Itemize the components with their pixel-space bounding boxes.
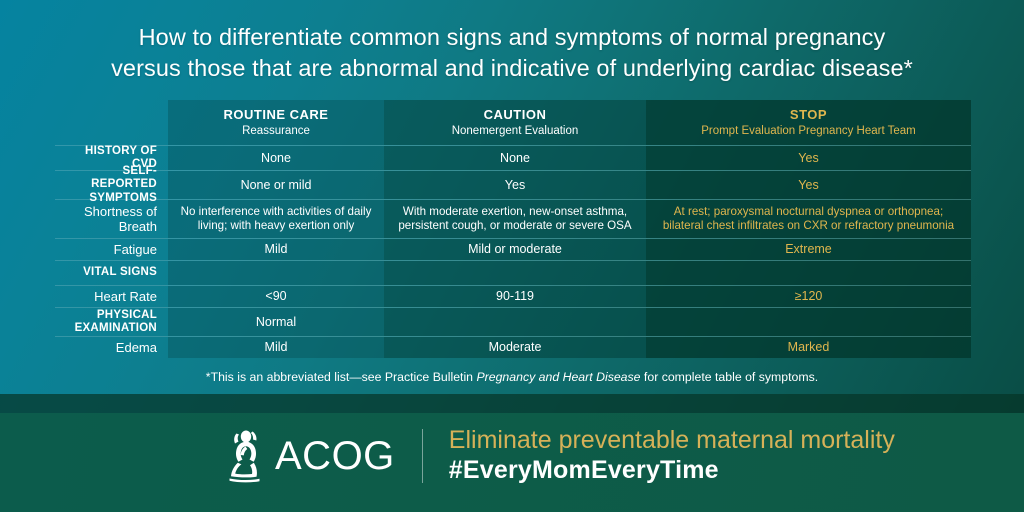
column-header-stop: STOP Prompt Evaluation Pregnancy Heart T…: [646, 100, 971, 145]
cell-routine-edema: Mild: [168, 337, 384, 358]
column-sub-stop: Prompt Evaluation Pregnancy Heart Team: [701, 124, 916, 139]
cell-stop-self-reported-symptoms: Yes: [646, 171, 971, 199]
column-sub-routine: Reassurance: [242, 124, 310, 139]
column-key-caution: CAUTION: [484, 107, 547, 123]
acog-seated-woman-logo-icon: [222, 427, 268, 485]
cell-stop-edema: Marked: [646, 337, 971, 358]
table-header-row: ROUTINE CARE Reassurance CAUTION Nonemer…: [55, 100, 971, 145]
footer-vertical-divider: [422, 429, 423, 483]
row-label-physical-examination: PHYSICAL EXAMINATION: [55, 308, 168, 336]
page-title: How to differentiate common signs and sy…: [0, 22, 1024, 84]
row-label-edema: Edema: [55, 337, 168, 358]
table-row: VITAL SIGNS: [55, 260, 971, 285]
cell-routine-self-reported-symptoms: None or mild: [168, 171, 384, 199]
footer-divider-band: [0, 394, 1024, 413]
cell-stop-history-of-cvd: Yes: [646, 146, 971, 170]
table-row: HISTORY OF CVD None None Yes: [55, 145, 971, 170]
footer-slogan-primary: Eliminate preventable maternal mortality: [449, 425, 895, 455]
table-row: SELF-REPORTED SYMPTOMS None or mild Yes …: [55, 170, 971, 199]
column-key-routine: ROUTINE CARE: [224, 107, 329, 123]
cell-routine-shortness-of-breath: No interference with activities of daily…: [168, 200, 384, 238]
table-row: Shortness of Breath No interference with…: [55, 199, 971, 238]
column-sub-caution: Nonemergent Evaluation: [452, 124, 579, 139]
footnote-prefix: *This is an abbreviated list—see Practic…: [206, 370, 477, 384]
footnote: *This is an abbreviated list—see Practic…: [0, 370, 1024, 384]
title-line-1: How to differentiate common signs and sy…: [0, 22, 1024, 53]
row-label-vital-signs: VITAL SIGNS: [55, 261, 168, 285]
cell-stop-vital-signs: [646, 261, 971, 285]
footer-hashtag: #EveryMomEveryTime: [449, 455, 895, 486]
cell-caution-vital-signs: [384, 261, 646, 285]
infographic-canvas: How to differentiate common signs and sy…: [0, 0, 1024, 512]
table-row: PHYSICAL EXAMINATION Normal: [55, 307, 971, 336]
cell-caution-self-reported-symptoms: Yes: [384, 171, 646, 199]
cell-stop-heart-rate: ≥120: [646, 286, 971, 307]
header-corner-blank: [55, 100, 168, 145]
cell-caution-fatigue: Mild or moderate: [384, 239, 646, 260]
cell-caution-history-of-cvd: None: [384, 146, 646, 170]
cell-caution-edema: Moderate: [384, 337, 646, 358]
row-label-fatigue: Fatigue: [55, 239, 168, 260]
footnote-suffix: for complete table of symptoms.: [641, 370, 819, 384]
table-row: Fatigue Mild Mild or moderate Extreme: [55, 238, 971, 260]
cell-caution-shortness-of-breath: With moderate exertion, new-onset asthma…: [384, 200, 646, 238]
cell-routine-vital-signs: [168, 261, 384, 285]
footer-slogans: Eliminate preventable maternal mortality…: [449, 425, 895, 486]
column-header-routine-care: ROUTINE CARE Reassurance: [168, 100, 384, 145]
cell-stop-fatigue: Extreme: [646, 239, 971, 260]
row-label-shortness-of-breath: Shortness of Breath: [55, 200, 168, 238]
table-row: Edema Mild Moderate Marked: [55, 336, 971, 358]
column-key-stop: STOP: [790, 107, 827, 123]
cell-stop-physical-examination: [646, 308, 971, 336]
cell-routine-physical-examination: Normal: [168, 308, 384, 336]
cell-routine-history-of-cvd: None: [168, 146, 384, 170]
symptoms-table: ROUTINE CARE Reassurance CAUTION Nonemer…: [55, 100, 971, 358]
footer-content: ACOG Eliminate preventable maternal mort…: [222, 425, 895, 486]
cell-caution-physical-examination: [384, 308, 646, 336]
table-row: Heart Rate <90 90-119 ≥120: [55, 285, 971, 307]
row-label-heart-rate: Heart Rate: [55, 286, 168, 307]
cell-routine-heart-rate: <90: [168, 286, 384, 307]
column-header-caution: CAUTION Nonemergent Evaluation: [384, 100, 646, 145]
cell-caution-heart-rate: 90-119: [384, 286, 646, 307]
row-label-self-reported-symptoms: SELF-REPORTED SYMPTOMS: [55, 171, 168, 199]
footnote-italic-title: Pregnancy and Heart Disease: [476, 370, 640, 384]
title-line-2: versus those that are abnormal and indic…: [0, 53, 1024, 84]
cell-stop-shortness-of-breath: At rest; paroxysmal nocturnal dyspnea or…: [646, 200, 971, 238]
acog-wordmark: ACOG: [275, 433, 395, 479]
cell-routine-fatigue: Mild: [168, 239, 384, 260]
